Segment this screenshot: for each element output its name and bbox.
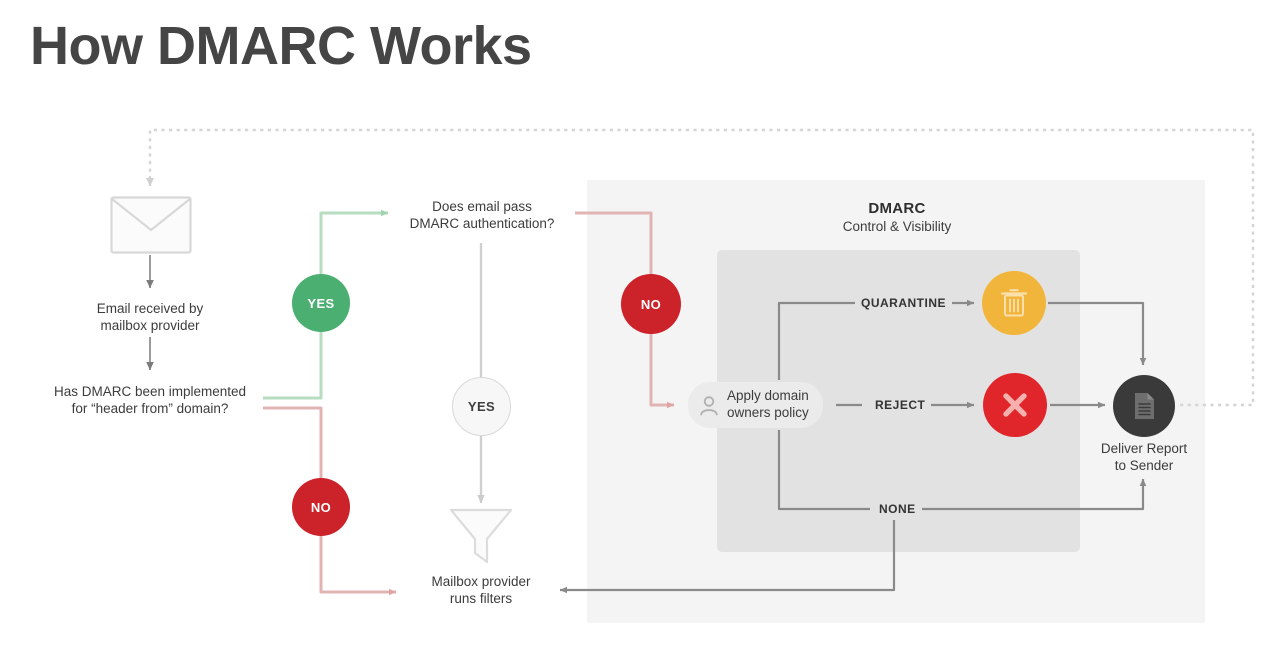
badge-no-implemented-label: NO [311, 500, 331, 515]
envelope-icon [110, 196, 192, 254]
branch-label-quarantine: QUARANTINE [855, 296, 952, 310]
deliver-report-line1: Deliver Report [1064, 440, 1224, 457]
badge-no-implemented[interactable]: NO [292, 478, 350, 536]
none-to-filters-path [560, 520, 894, 590]
reject-x-circle[interactable] [983, 373, 1047, 437]
person-icon [698, 394, 720, 416]
trash-icon [999, 287, 1029, 319]
question-dmarc-implemented: Has DMARC been implemented for “header f… [20, 383, 280, 418]
policy-to-none-path [779, 430, 870, 509]
question-dmarc-auth: Does email pass DMARC authentication? [388, 198, 576, 233]
question-dmarc-implemented-line2: for “header from” domain? [20, 400, 280, 417]
step-mailbox-filters-line1: Mailbox provider [396, 573, 566, 590]
deliver-report-circle[interactable] [1113, 375, 1175, 437]
diagram-canvas: How DMARC Works [0, 0, 1286, 657]
document-icon [1130, 390, 1158, 422]
funnel-icon [449, 508, 513, 564]
step-email-received-line2: mailbox provider [40, 317, 260, 334]
none-to-report-path [919, 479, 1143, 509]
badge-no-auth-label: NO [641, 297, 661, 312]
badge-yes-auth[interactable]: YES [452, 377, 511, 436]
badge-yes-implemented[interactable]: YES [292, 274, 350, 332]
quarantine-to-report-path [1048, 303, 1143, 365]
policy-to-quarantine-path [779, 303, 862, 380]
step-mailbox-filters-line2: runs filters [396, 590, 566, 607]
dmarc-heading-title: DMARC [777, 200, 1017, 217]
step-mailbox-filters: Mailbox provider runs filters [396, 573, 566, 608]
question-dmarc-implemented-line1: Has DMARC been implemented [20, 383, 280, 400]
badge-yes-implemented-label: YES [307, 296, 334, 311]
deliver-report-line2: to Sender [1064, 457, 1224, 474]
dmarc-panel-heading: DMARC Control & Visibility [777, 200, 1017, 234]
branch-label-reject: REJECT [869, 398, 931, 412]
apply-policy-line2: owners policy [727, 405, 809, 422]
apply-policy-text: Apply domain owners policy [727, 388, 809, 422]
dmarc-heading-subtitle: Control & Visibility [777, 219, 1017, 234]
badge-yes-auth-label: YES [468, 399, 495, 414]
branch-label-none: NONE [873, 502, 922, 516]
badge-no-auth[interactable]: NO [621, 274, 681, 334]
question-dmarc-auth-line2: DMARC authentication? [388, 215, 576, 232]
deliver-report-label: Deliver Report to Sender [1064, 440, 1224, 475]
quarantine-trash-circle[interactable] [982, 271, 1046, 335]
x-mark-icon [999, 389, 1031, 421]
step-email-received: Email received by mailbox provider [40, 300, 260, 335]
apply-policy-line1: Apply domain [727, 388, 809, 405]
question-dmarc-auth-line1: Does email pass [388, 198, 576, 215]
apply-domain-owners-policy[interactable]: Apply domain owners policy [688, 382, 823, 428]
feedback-dotted-path [150, 130, 1253, 405]
step-email-received-line1: Email received by [40, 300, 260, 317]
